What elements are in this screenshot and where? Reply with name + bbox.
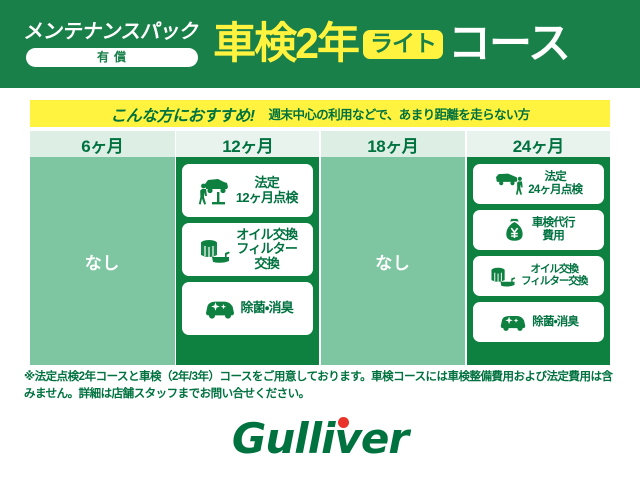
plan-column-24months: 24ヶ月 [467, 131, 611, 365]
oil-filter-can-icon [489, 263, 517, 289]
service-card-sanitize-12[interactable]: 除菌・消臭 [182, 282, 313, 335]
column-header-6months: 6ヶ月 [30, 131, 175, 157]
plan-column-18months: 18ヶ月 なし [321, 131, 465, 365]
car-sparkle-icon [203, 297, 237, 321]
service-line-1: オイル交換 [531, 263, 579, 275]
headline-main: 車検2年 [213, 23, 358, 66]
brand-logo-text: Gulliver [232, 414, 408, 463]
service-card-label: 法定 12ヶ月点検 [236, 176, 298, 205]
service-card-label: 車検代行 費用 [532, 217, 575, 243]
car-sparkle-icon [498, 312, 528, 333]
brand-logo: Gulliver [0, 414, 640, 463]
column-body-24months: 法定 24ヶ月点検 [467, 157, 611, 365]
service-card-legal-inspection-24[interactable]: 法定 24ヶ月点検 [473, 164, 605, 204]
service-card-sanitize-24[interactable]: 除菌・消臭 [473, 302, 605, 342]
service-card-label: 法定 24ヶ月点検 [528, 171, 582, 197]
recommendation-lead: こんな方におすすめ! [110, 102, 254, 126]
service-line-1: オイル交換 [236, 227, 297, 242]
service-line-1: 除菌・消臭 [532, 316, 578, 328]
brand-logo-label: Gulliver [232, 414, 408, 463]
car-on-lift-inspection-icon [198, 176, 232, 206]
logo-red-dot-icon [338, 417, 349, 428]
oil-filter-can-icon [198, 235, 232, 265]
service-line-1: 車検代行 [532, 217, 575, 229]
service-line-1: 法定 [255, 175, 279, 190]
headline-light-badge: ライト [363, 30, 443, 59]
headline-course: コース [448, 23, 569, 66]
service-card-inspection-agency-fee-24[interactable]: 車検代行 費用 [473, 210, 605, 250]
column-header-24months: 24ヶ月 [467, 131, 611, 157]
plan-column-12months: 12ヶ月 [176, 131, 319, 365]
service-card-label: 除菌・消臭 [532, 316, 578, 329]
recommendation-detail: 週末中心の利用などで、あまり距離を走らない方 [269, 104, 530, 123]
car-on-lift-inspection-icon [494, 171, 524, 197]
column-header-12months: 12ヶ月 [176, 131, 319, 157]
header-banner: メンテナンスパック 有償 車検2年 ライト コース [0, 0, 640, 88]
pack-title: メンテナンスパック [23, 22, 201, 43]
service-card-legal-inspection-12[interactable]: 法定 12ヶ月点検 [182, 164, 313, 217]
plan-column-6months: 6ヶ月 なし [30, 131, 175, 365]
service-line-2: 12ヶ月点検 [236, 190, 298, 205]
service-card-label: オイル交換 フィルター 交換 [236, 228, 297, 272]
none-label-18months: なし [375, 249, 410, 274]
none-label-6months: なし [85, 249, 120, 274]
recommendation-strip: こんな方におすすめ! 週末中心の利用などで、あまり距離を走らない方 [30, 100, 610, 127]
service-card-oil-change-12[interactable]: オイル交換 フィルター 交換 [182, 223, 313, 276]
service-card-label: オイル交換 フィルター交換 [521, 264, 587, 288]
headline: 車検2年 ライト コース [213, 23, 569, 66]
service-line-1: 除菌・消臭 [241, 300, 293, 315]
service-card-label: 除菌・消臭 [241, 301, 293, 316]
maintenance-pack-block: メンテナンスパック 有償 [24, 22, 199, 67]
column-body-6months: なし [30, 157, 175, 365]
column-body-18months: なし [321, 157, 465, 365]
service-line-1: 法定 [545, 171, 566, 183]
service-line-2: 費用 [543, 230, 564, 242]
column-header-18months: 18ヶ月 [321, 131, 465, 157]
money-bag-yen-icon [502, 217, 528, 243]
plan-table: 6ヶ月 なし 12ヶ月 [30, 131, 610, 365]
pack-paid-badge: 有償 [26, 48, 198, 67]
service-line-3: 交換 [255, 256, 279, 271]
footnote-disclaimer: ※法定点検2年コースと車検（2年/3年）コースをご用意しております。車検コースに… [24, 369, 620, 404]
service-line-2: フィルター [236, 241, 297, 256]
advertisement-page: メンテナンスパック 有償 車検2年 ライト コース こんな方におすすめ! 週末中… [0, 0, 640, 480]
service-card-oil-change-24[interactable]: オイル交換 フィルター交換 [473, 256, 605, 296]
service-line-2: フィルター交換 [521, 275, 587, 287]
service-line-2: 24ヶ月点検 [528, 184, 582, 196]
column-body-12months: 法定 12ヶ月点検 [176, 157, 319, 365]
